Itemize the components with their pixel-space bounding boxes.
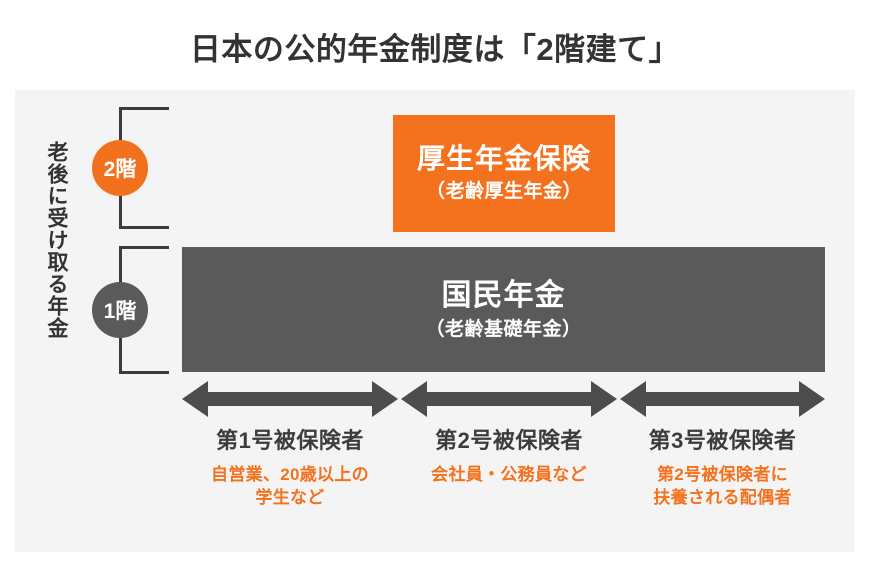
category-subtitle-3-line-1: 第2号被保険者に <box>620 464 825 487</box>
pension-box-kosei-sub-label: （老齢厚生年金） <box>426 182 582 203</box>
category-subtitle-1-line-1: 自営業、20歳以上の <box>182 464 398 487</box>
page-title: 日本の公的年金制度は「2階建て」 <box>0 24 870 69</box>
category-title-2: 第2号被保険者 <box>401 428 617 454</box>
category-subtitle-1-line-2: 学生など <box>182 487 398 510</box>
double-headed-arrow-icon-1 <box>182 381 398 417</box>
category-subtitle-2-line-1: 会社員・公務員など <box>401 464 617 487</box>
category-column-2: 第2号被保険者 会社員・公務員など <box>401 428 617 487</box>
double-headed-arrow-icon-2 <box>401 381 617 417</box>
category-subtitle-2: 会社員・公務員など <box>401 464 617 487</box>
floor-badge-2: 2階 <box>92 140 148 196</box>
vertical-axis-label: 老後に受け取る年金 <box>41 115 71 365</box>
double-headed-arrow-icon-3 <box>620 381 825 417</box>
category-title-3: 第3号被保険者 <box>620 428 825 454</box>
category-title-1: 第1号被保険者 <box>182 428 398 454</box>
category-row: 第1号被保険者 自営業、20歳以上の 学生など 第2号被保険者 会社員・公務員な… <box>182 428 825 538</box>
pension-box-kokumin-sub-label: （老齢基礎年金） <box>425 320 581 341</box>
pension-box-kokumin-main-label: 国民年金 <box>442 279 566 312</box>
category-subtitle-3: 第2号被保険者に 扶養される配偶者 <box>620 464 825 510</box>
category-subtitle-3-line-2: 扶養される配偶者 <box>620 487 825 510</box>
pension-box-kosei-nenkin: 厚生年金保険 （老齢厚生年金） <box>393 115 615 232</box>
category-subtitle-1: 自営業、20歳以上の 学生など <box>182 464 398 510</box>
pension-box-kokumin-nenkin: 国民年金 （老齢基礎年金） <box>182 247 825 372</box>
floor-badge-1: 1階 <box>92 282 148 338</box>
arrow-row <box>182 381 825 417</box>
pension-box-kosei-main-label: 厚生年金保険 <box>417 144 591 175</box>
category-column-1: 第1号被保険者 自営業、20歳以上の 学生など <box>182 428 398 510</box>
category-column-3: 第3号被保険者 第2号被保険者に 扶養される配偶者 <box>620 428 825 510</box>
